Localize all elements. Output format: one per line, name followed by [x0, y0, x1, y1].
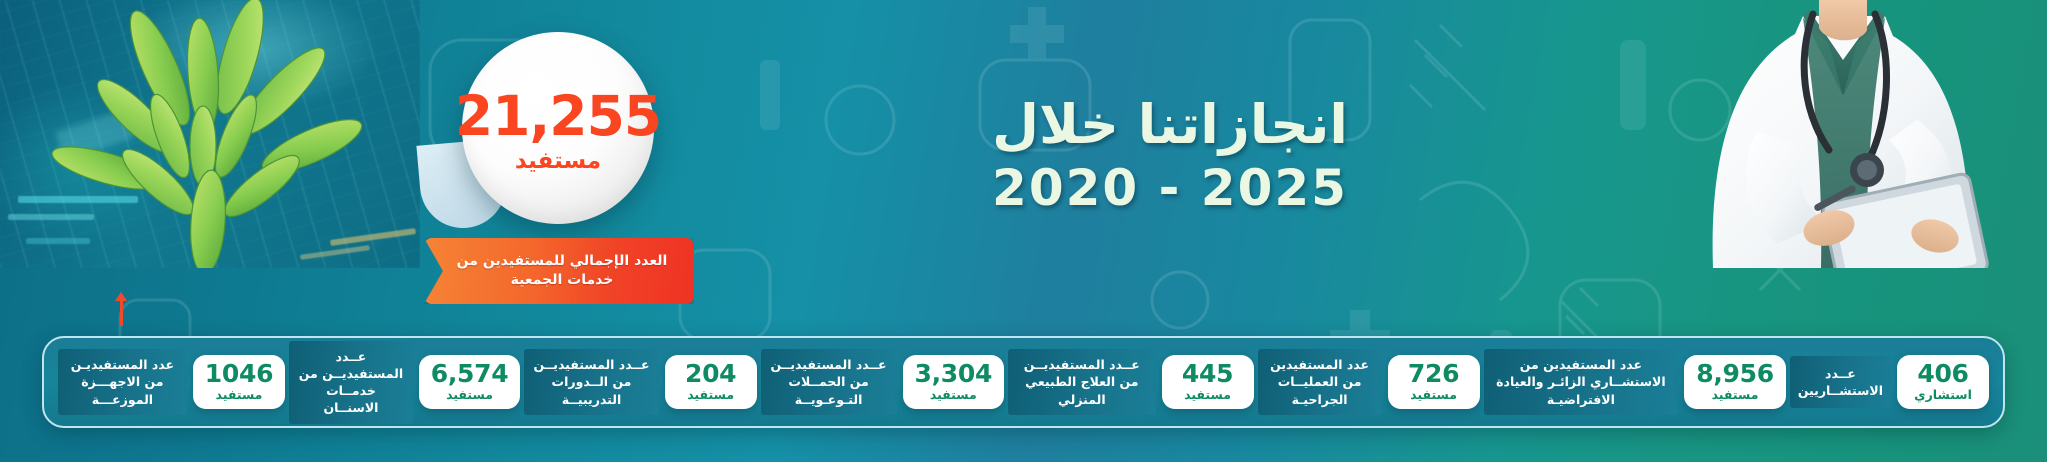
stat-unit: مستفيد [1184, 389, 1231, 402]
total-beneficiaries-value: 21,255 [455, 89, 661, 144]
stat-value: 406 [1917, 361, 1968, 386]
stat-unit: مستفيد [687, 389, 734, 402]
stat-value: 1046 [205, 361, 273, 386]
stat-label: عــدد الاستشــاريين [1790, 356, 1891, 408]
stat-value-pill: 406استشاري [1897, 355, 1989, 409]
stat-value: 726 [1408, 361, 1459, 386]
total-beneficiaries-badge: 21,255 مستفيد [462, 32, 654, 224]
stat-unit: مستفيد [1712, 389, 1759, 402]
ribbon-pointer-arrow-icon [120, 300, 123, 326]
stat-label: عــدد المستفيديــن من الــدورات التدريبي… [524, 349, 658, 415]
stat-unit: مستفيد [930, 389, 977, 402]
statistics-bar: 406استشاريعــدد الاستشــاريين8,956مستفيد… [42, 336, 2005, 428]
doctor-photo [1617, 0, 2047, 268]
stat-value: 6,574 [431, 361, 509, 386]
stat-item: 726مستفيدعدد المستفيدين من العمليــات ال… [1258, 347, 1480, 417]
stat-item: 406استشاريعــدد الاستشــاريين [1790, 347, 1989, 417]
stat-value-pill: 8,956مستفيد [1684, 355, 1786, 409]
stat-item: 3,304مستفيدعــدد المستفيديــن من الحمــل… [761, 347, 1004, 417]
stat-label: عــدد المستفيديــن من العلاج الطبيعي الم… [1008, 349, 1155, 415]
stat-unit: مستفيد [216, 389, 263, 402]
stat-item: 8,956مستفيدعدد المستفيدين من الاستشــاري… [1484, 347, 1786, 417]
title-main-text: انجازاتنا خلال [960, 96, 1380, 154]
stat-value: 445 [1182, 361, 1233, 386]
stat-value-pill: 445مستفيد [1162, 355, 1254, 409]
stat-value: 8,956 [1696, 361, 1774, 386]
total-beneficiaries-unit: مستفيد [515, 150, 601, 173]
stat-value-pill: 726مستفيد [1388, 355, 1480, 409]
ribbon-shape: العدد الإجمالي للمستفيدين من خدمات الجمع… [424, 238, 694, 304]
stat-label: عدد المستفيدين من الاستشــاري الزائـر وا… [1484, 349, 1679, 415]
stat-item: 1046مستفيدعدد المستفيديـن من الاجهـــزة … [58, 347, 285, 417]
stat-label: عــدد المستفيديــن من الحمــلات التـوعـو… [761, 349, 897, 415]
stat-item: 445مستفيدعــدد المستفيديــن من العلاج ال… [1008, 347, 1253, 417]
title-years-text: 2025 - 2020 [960, 160, 1380, 218]
stat-item: 6,574مستفيدعــدد المستفيديــن من خدمــات… [289, 347, 520, 417]
ribbon-label: العدد الإجمالي للمستفيدين من خدمات الجمع… [424, 248, 694, 294]
stat-label: عدد المستفيديـن من الاجهـــزة الموزعـــة [58, 349, 187, 415]
stat-label: عــدد المستفيديــن من خدمــات الاسنــان [289, 341, 413, 424]
stat-unit: مستفيد [1410, 389, 1457, 402]
succulent-plant-icon [40, 0, 380, 268]
banner-title: انجازاتنا خلال 2025 - 2020 [960, 96, 1380, 218]
stat-value-pill: 6,574مستفيد [419, 355, 521, 409]
left-decorative-photo [0, 0, 420, 268]
stat-unit: استشاري [1914, 389, 1972, 402]
stat-value-pill: 3,304مستفيد [903, 355, 1005, 409]
stat-value-pill: 1046مستفيد [193, 355, 285, 409]
stat-label: عدد المستفيدين من العمليــات الجراحيـة [1258, 349, 1382, 415]
stat-item: 204مستفيدعــدد المستفيديــن من الــدورات… [524, 347, 756, 417]
total-beneficiaries-ribbon: العدد الإجمالي للمستفيدين من خدمات الجمع… [424, 238, 694, 304]
stat-unit: مستفيد [446, 389, 493, 402]
stat-value: 204 [685, 361, 736, 386]
stat-value: 3,304 [915, 361, 993, 386]
stat-value-pill: 204مستفيد [665, 355, 757, 409]
achievements-banner: 21,255 مستفيد العدد الإجمالي للمستفيدين … [0, 0, 2047, 462]
